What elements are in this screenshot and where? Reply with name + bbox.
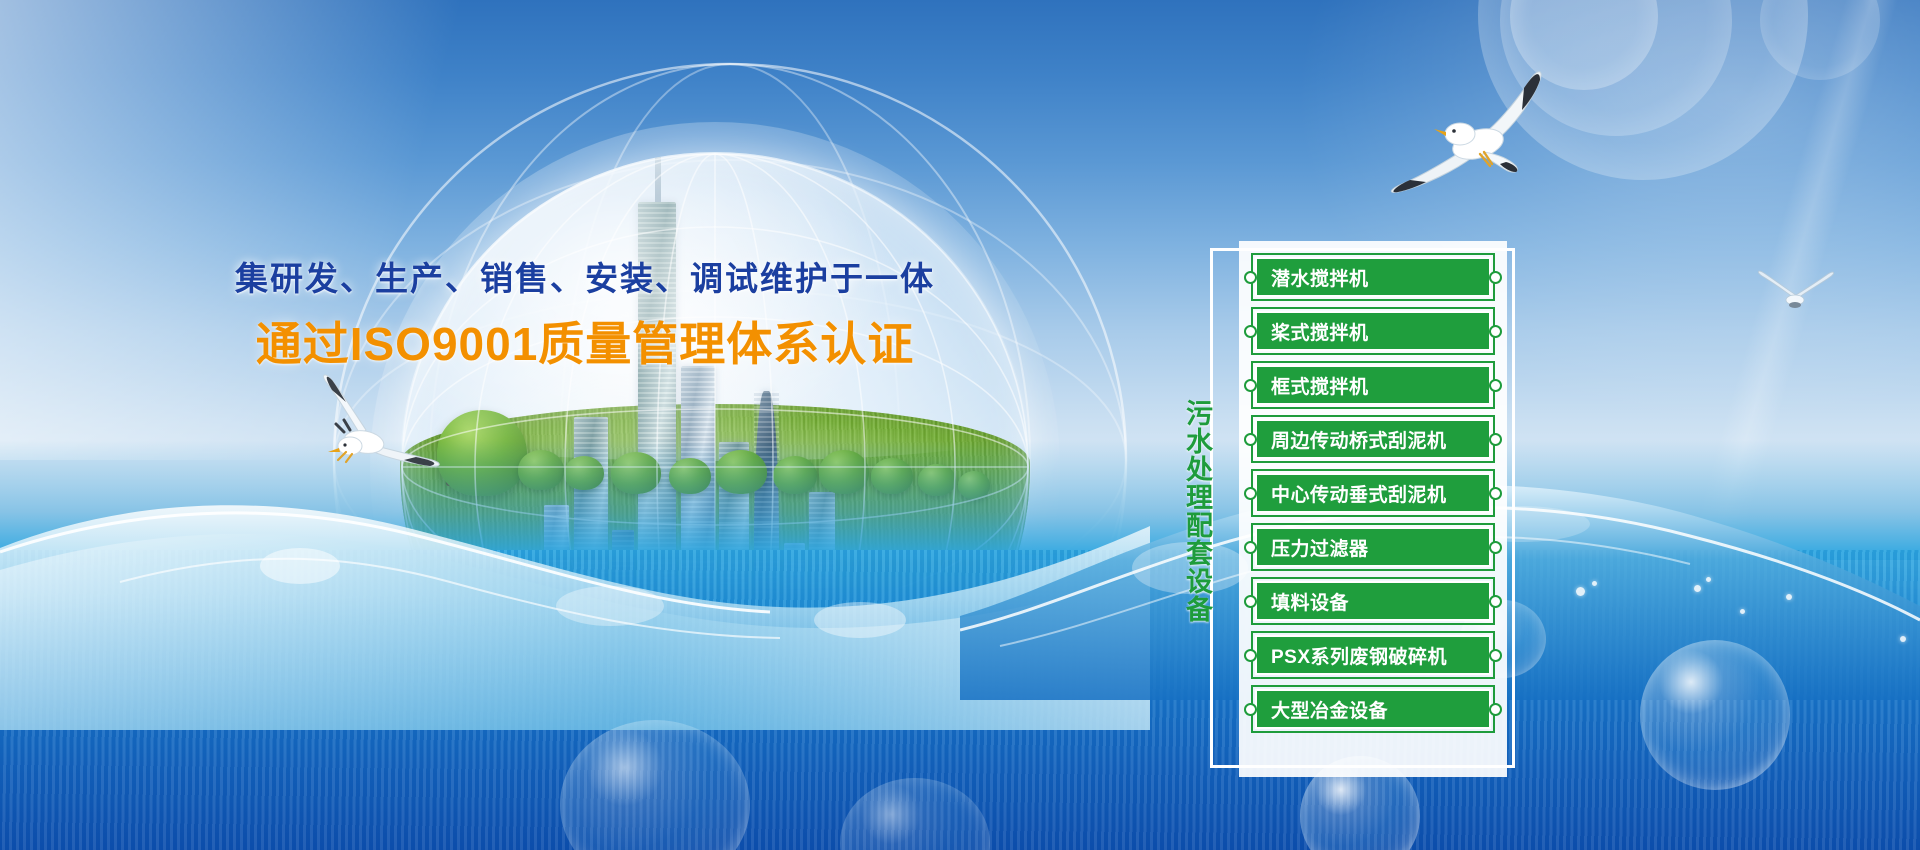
connector-knob-left-icon — [1244, 433, 1257, 446]
product-item-fill: 框式搅拌机 — [1255, 365, 1491, 405]
product-panel-vertical-label: 污水处理配套设备 — [1171, 399, 1211, 623]
connector-knob-left-icon — [1244, 541, 1257, 554]
product-panel: 污水处理配套设备 潜水搅拌机 桨式搅拌机 — [1210, 248, 1515, 768]
headline-primary: 集研发、生产、销售、安装、调试维护于一体 — [0, 252, 1170, 300]
seagull-medium-icon — [300, 368, 450, 480]
connector-knob-right-icon — [1489, 649, 1502, 662]
product-item-2[interactable]: 框式搅拌机 — [1251, 361, 1495, 409]
connector-knob-right-icon — [1489, 703, 1502, 716]
seagull-large-icon — [1374, 62, 1574, 202]
product-item-label: PSX系列废钢破碎机 — [1271, 642, 1447, 669]
product-item-4[interactable]: 中心传动垂式刮泥机 — [1251, 469, 1495, 517]
globe-graphic — [400, 152, 1030, 782]
connector-knob-right-icon — [1489, 433, 1502, 446]
connector-knob-right-icon — [1489, 379, 1502, 392]
product-item-8[interactable]: 大型冶金设备 — [1251, 685, 1495, 733]
connector-knob-left-icon — [1244, 649, 1257, 662]
product-item-3[interactable]: 周边传动桥式刮泥机 — [1251, 415, 1495, 463]
connector-knob-right-icon — [1489, 325, 1502, 338]
globe-sphere — [400, 152, 1030, 782]
product-item-0[interactable]: 潜水搅拌机 — [1251, 253, 1495, 301]
product-item-fill: 中心传动垂式刮泥机 — [1255, 473, 1491, 513]
product-item-label: 大型冶金设备 — [1271, 696, 1388, 723]
product-item-1[interactable]: 桨式搅拌机 — [1251, 307, 1495, 355]
product-item-fill: 潜水搅拌机 — [1255, 257, 1491, 297]
connector-knob-left-icon — [1244, 325, 1257, 338]
product-item-fill: PSX系列废钢破碎机 — [1255, 635, 1491, 675]
headline-block: 集研发、生产、销售、安装、调试维护于一体 通过ISO9001质量管理体系认证 — [0, 252, 1170, 374]
product-panel-inner: 潜水搅拌机 桨式搅拌机 框式搅拌机 — [1239, 241, 1507, 777]
product-item-fill: 填料设备 — [1255, 581, 1491, 621]
product-item-label: 中心传动垂式刮泥机 — [1271, 480, 1447, 507]
product-item-7[interactable]: PSX系列废钢破碎机 — [1251, 631, 1495, 679]
connector-knob-right-icon — [1489, 487, 1502, 500]
headline-secondary: 通过ISO9001质量管理体系认证 — [0, 308, 1170, 374]
connector-knob-right-icon — [1489, 271, 1502, 284]
product-item-label: 填料设备 — [1271, 588, 1349, 615]
product-item-fill: 周边传动桥式刮泥机 — [1255, 419, 1491, 459]
globe-grid-lines — [400, 152, 1030, 782]
connector-knob-left-icon — [1244, 703, 1257, 716]
connector-knob-left-icon — [1244, 595, 1257, 608]
product-item-fill: 压力过滤器 — [1255, 527, 1491, 567]
product-list: 潜水搅拌机 桨式搅拌机 框式搅拌机 — [1251, 253, 1495, 733]
product-item-label: 框式搅拌机 — [1271, 372, 1369, 399]
product-item-fill: 大型冶金设备 — [1255, 689, 1491, 729]
connector-knob-left-icon — [1244, 379, 1257, 392]
connector-knob-right-icon — [1489, 595, 1502, 608]
seagull-small-icon — [1752, 262, 1838, 318]
product-item-label: 桨式搅拌机 — [1271, 318, 1369, 345]
product-item-fill: 桨式搅拌机 — [1255, 311, 1491, 351]
connector-knob-left-icon — [1244, 271, 1257, 284]
product-item-5[interactable]: 压力过滤器 — [1251, 523, 1495, 571]
product-item-label: 周边传动桥式刮泥机 — [1271, 426, 1447, 453]
banner-stage: 集研发、生产、销售、安装、调试维护于一体 通过ISO9001质量管理体系认证 污… — [0, 0, 1920, 850]
product-item-6[interactable]: 填料设备 — [1251, 577, 1495, 625]
connector-knob-left-icon — [1244, 487, 1257, 500]
product-item-label: 潜水搅拌机 — [1271, 264, 1369, 291]
product-item-label: 压力过滤器 — [1271, 534, 1369, 561]
connector-knob-right-icon — [1489, 541, 1502, 554]
